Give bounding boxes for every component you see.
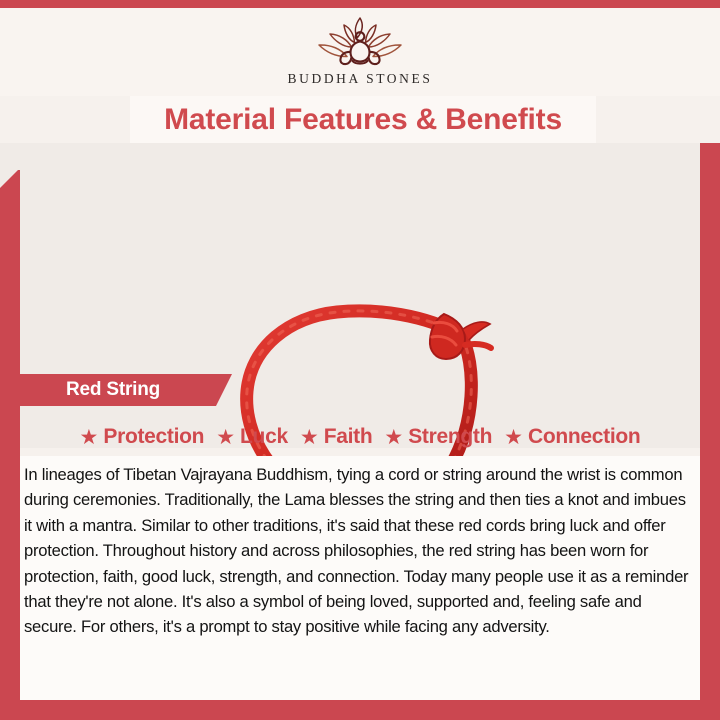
brand-header: BUDDHA STONES xyxy=(0,8,720,96)
benefit-item-protection: ★ Protection xyxy=(75,425,210,449)
title-band: Material Features & Benefits xyxy=(130,96,596,143)
star-icon: ★ xyxy=(300,427,319,448)
benefit-label: Connection xyxy=(528,425,641,449)
benefit-label: Luck xyxy=(240,425,288,449)
star-icon: ★ xyxy=(216,427,235,448)
description-text: In lineages of Tibetan Vajrayana Buddhis… xyxy=(24,462,690,640)
benefit-item-connection: ★ Connection xyxy=(499,425,645,449)
top-accent-strip xyxy=(0,0,720,8)
lotus-meditation-icon xyxy=(314,14,406,70)
page-title: Material Features & Benefits xyxy=(164,103,562,137)
star-icon: ★ xyxy=(384,427,403,448)
left-accent-bar xyxy=(0,170,20,700)
brand-wordmark: BUDDHA STONES xyxy=(288,71,433,87)
product-name-label: Red String xyxy=(66,379,160,401)
right-accent-bar xyxy=(700,143,720,700)
product-name-tag: Red String xyxy=(20,374,232,406)
benefit-item-faith: ★ Faith xyxy=(295,425,378,449)
star-icon: ★ xyxy=(80,427,99,448)
benefits-row: ★ Protection ★ Luck ★ Faith ★ Strength ★… xyxy=(20,418,700,456)
infographic-page: BUDDHA STONES Material Features & Benefi… xyxy=(0,0,720,720)
benefit-item-luck: ★ Luck xyxy=(211,425,293,449)
benefit-label: Protection xyxy=(103,425,204,449)
benefit-label: Strength xyxy=(408,425,492,449)
star-icon: ★ xyxy=(504,427,523,448)
benefit-item-strength: ★ Strength xyxy=(379,425,497,449)
description-panel: In lineages of Tibetan Vajrayana Buddhis… xyxy=(20,456,700,700)
bottom-accent-bar xyxy=(0,700,720,720)
benefit-label: Faith xyxy=(324,425,373,449)
